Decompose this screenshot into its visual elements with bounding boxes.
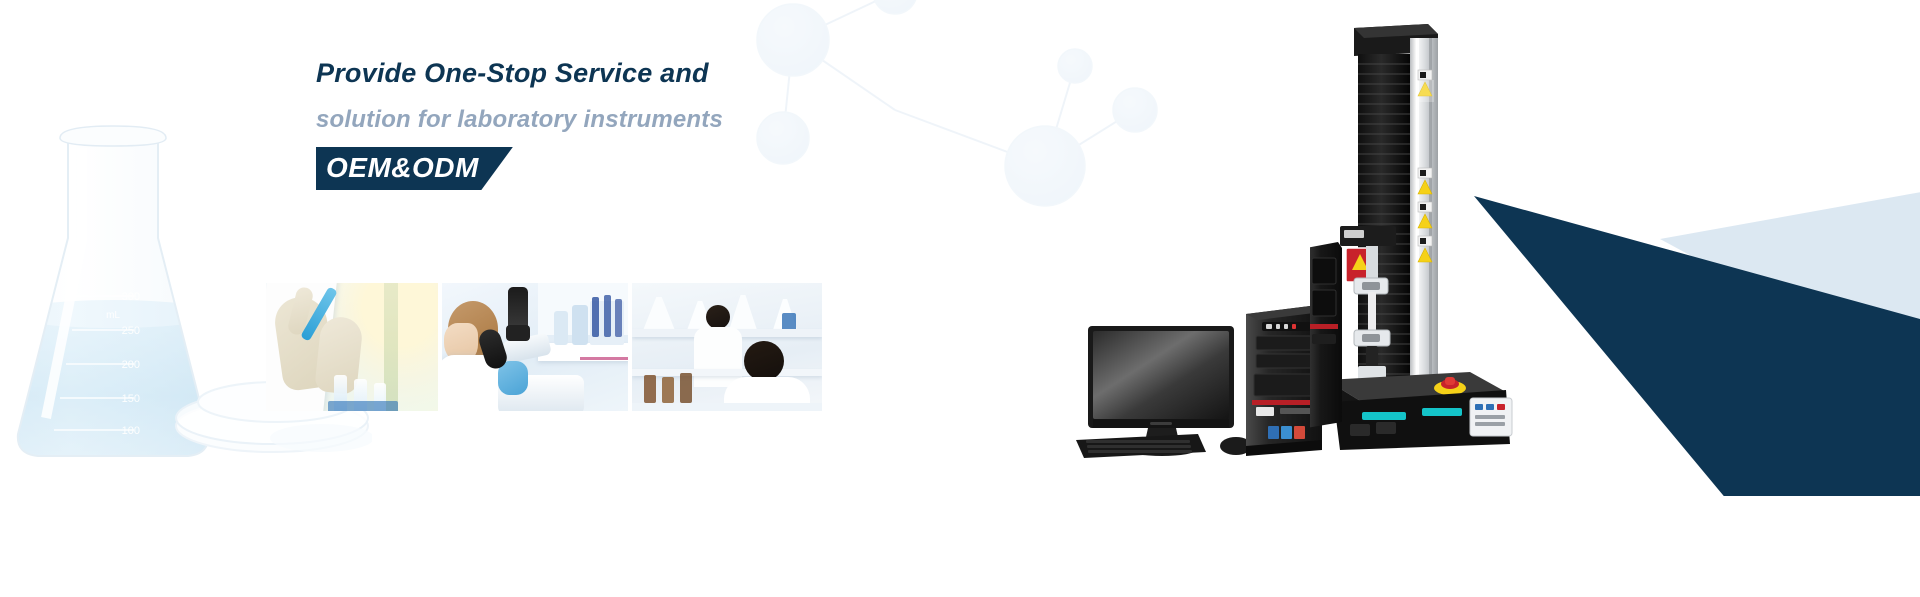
universal-testing-machine xyxy=(1310,20,1520,450)
flask-unit-label: mL xyxy=(106,310,120,321)
page-subtitle: solution for laboratory instruments xyxy=(316,106,876,134)
photo-pipetting xyxy=(266,283,438,411)
hero-copy: Provide One-Stop Service and solution fo… xyxy=(316,58,876,190)
flask-graduation-150: 150 xyxy=(122,393,140,405)
flask-graduation-300: 300 xyxy=(122,291,140,303)
hero-banner: 300 250 200 150 100 mL Provide One-Stop … xyxy=(0,0,1920,597)
desktop-computer xyxy=(1040,300,1330,460)
page-title: Provide One-Stop Service and xyxy=(316,58,876,89)
photo-microscope xyxy=(442,283,628,411)
oem-odm-badge: OEM&ODM xyxy=(316,147,513,190)
photo-lab-bench xyxy=(632,283,822,411)
flask-graduation-100: 100 xyxy=(122,425,140,437)
flask-graduation-200: 200 xyxy=(122,359,140,371)
lab-photo-strip xyxy=(266,283,822,411)
flask-graduation-250: 250 xyxy=(122,325,140,337)
